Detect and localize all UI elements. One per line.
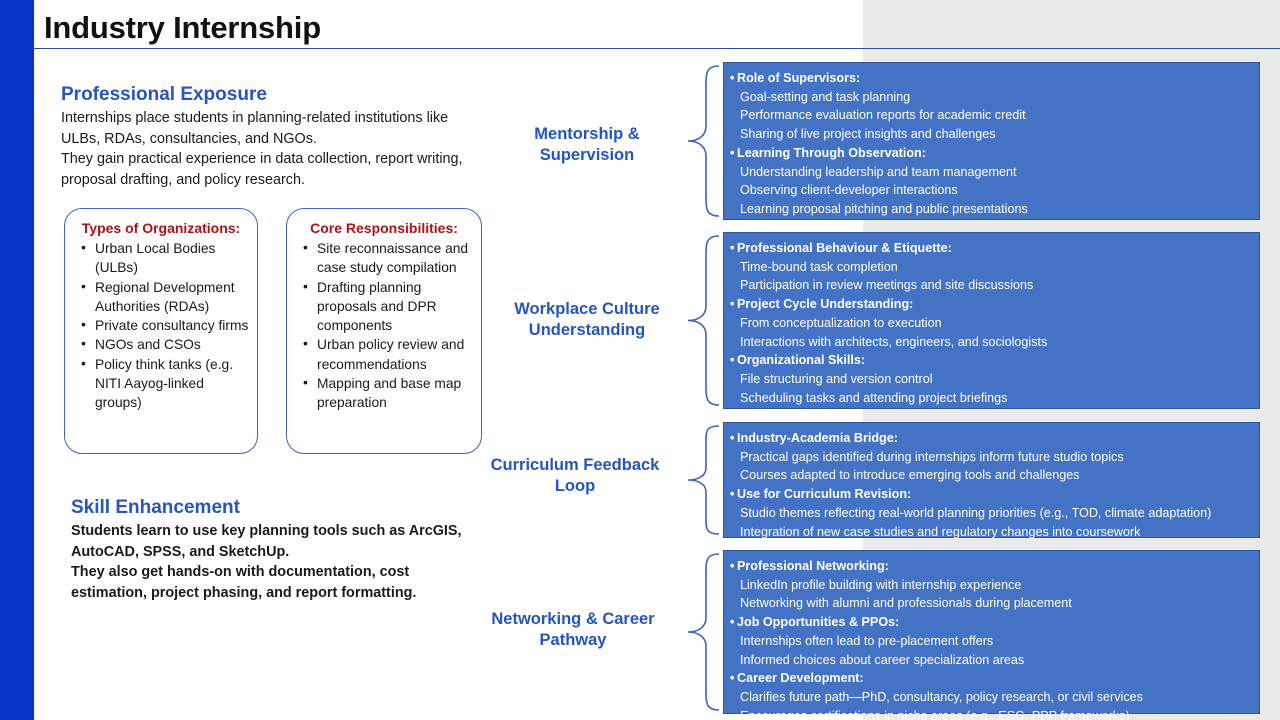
core-responsibilities-card: Core Responsibilities: Site reconnaissan… — [286, 208, 482, 454]
list-item: Urban policy review and recommendations — [317, 335, 473, 374]
panel-heading-line: •Use for Curriculum Revision: — [730, 485, 1251, 504]
list-item: Mapping and base map preparation — [317, 374, 473, 413]
panel-detail-line: Interactions with architects, engineers,… — [730, 333, 1251, 352]
list-item: Regional Development Authorities (RDAs) — [95, 278, 249, 317]
panel-heading-line: •Professional Behaviour & Etiquette: — [730, 239, 1251, 258]
panel-workplace-culture: •Professional Behaviour & Etiquette:Time… — [723, 232, 1260, 409]
panel-detail-line: File structuring and version control — [730, 370, 1251, 389]
section-label-networking: Networking & CareerPathway — [478, 609, 668, 651]
brace-mentorship — [686, 64, 720, 218]
panel-detail-line: Integration of new case studies and regu… — [730, 523, 1251, 542]
panel-detail-line: Informed choices about career specializa… — [730, 651, 1251, 670]
panel-detail-line: Encourages certifications in niche areas… — [730, 707, 1251, 720]
panel-detail-line: Understanding leadership and team manage… — [730, 163, 1251, 182]
panel-detail-line: Sharing of live project insights and cha… — [730, 125, 1251, 144]
card-title: Core Responsibilities: — [291, 219, 477, 237]
panel-detail-line: Practical gaps identified during interns… — [730, 448, 1251, 467]
panel-detail-line: Networking with alumni and professionals… — [730, 594, 1251, 613]
skill-enhancement-heading: Skill Enhancement — [71, 497, 240, 519]
bullet-icon: • — [730, 69, 737, 88]
card-list: Site reconnaissance and case study compi… — [287, 239, 481, 413]
panel-mentorship-supervision: •Role of Supervisors:Goal-setting and ta… — [723, 62, 1260, 220]
types-of-organizations-card: Types of Organizations: Urban Local Bodi… — [64, 208, 258, 454]
brace-curriculum — [686, 424, 720, 536]
panel-heading-line: •Learning Through Observation: — [730, 144, 1251, 163]
panel-networking-career: •Professional Networking:LinkedIn profil… — [723, 550, 1260, 714]
panel-detail-line: Clarifies future path—PhD, consultancy, … — [730, 688, 1251, 707]
list-item: Site reconnaissance and case study compi… — [317, 239, 473, 278]
panel-detail-line: Performance evaluation reports for acade… — [730, 106, 1251, 125]
panel-detail-line: Internships often lead to pre-placement … — [730, 632, 1251, 651]
panel-heading-line: •Job Opportunities & PPOs: — [730, 613, 1251, 632]
bullet-icon: • — [730, 351, 737, 370]
list-item: Urban Local Bodies (ULBs) — [95, 239, 249, 278]
card-list: Urban Local Bodies (ULBs)Regional Develo… — [65, 239, 257, 413]
panel-curriculum-feedback: •Industry-Academia Bridge:Practical gaps… — [723, 422, 1260, 538]
panel-detail-line: Learning proposal pitching and public pr… — [730, 200, 1251, 219]
bullet-icon: • — [730, 429, 737, 448]
panel-detail-line: Scheduling tasks and attending project b… — [730, 389, 1251, 408]
list-item: Private consultancy firms — [95, 316, 249, 335]
slide-canvas: Industry Internship Professional Exposur… — [0, 0, 1280, 720]
panel-detail-line: Time-bound task completion — [730, 258, 1251, 277]
panel-heading-line: •Industry-Academia Bridge: — [730, 429, 1251, 448]
left-accent-bar — [0, 0, 34, 720]
page-title: Industry Internship — [44, 10, 321, 46]
brace-workplace — [686, 234, 720, 407]
section-label-curriculum: Curriculum FeedbackLoop — [480, 455, 670, 497]
panel-detail-line: LinkedIn profile building with internshi… — [730, 576, 1251, 595]
panel-detail-line: Goal-setting and task planning — [730, 88, 1251, 107]
panel-detail-line: Studio themes reflecting real-world plan… — [730, 504, 1251, 523]
professional-exposure-heading: Professional Exposure — [61, 84, 267, 106]
skill-enhancement-body: Students learn to use key planning tools… — [71, 521, 471, 603]
bullet-icon: • — [730, 669, 737, 688]
panel-detail-line: Observing client-developer interactions — [730, 181, 1251, 200]
card-title: Types of Organizations: — [69, 219, 253, 237]
list-item: NGOs and CSOs — [95, 335, 249, 354]
panel-heading-line: •Role of Supervisors: — [730, 69, 1251, 88]
panel-heading-line: •Career Development: — [730, 669, 1251, 688]
professional-exposure-body: Internships place students in planning-r… — [61, 108, 481, 190]
section-label-workplace: Workplace CultureUnderstanding — [492, 299, 682, 341]
bullet-icon: • — [730, 239, 737, 258]
panel-detail-line: From conceptualization to execution — [730, 314, 1251, 333]
bullet-icon: • — [730, 295, 737, 314]
section-label-mentorship: Mentorship &Supervision — [492, 124, 682, 166]
bullet-icon: • — [730, 557, 737, 576]
bullet-icon: • — [730, 485, 737, 504]
list-item: Drafting planning proposals and DPR comp… — [317, 278, 473, 336]
panel-heading-line: •Professional Networking: — [730, 557, 1251, 576]
panel-heading-line: •Project Cycle Understanding: — [730, 295, 1251, 314]
title-divider — [34, 48, 1280, 49]
panel-detail-line: Courses adapted to introduce emerging to… — [730, 466, 1251, 485]
panel-heading-line: •Organizational Skills: — [730, 351, 1251, 370]
list-item: Policy think tanks (e.g. NITI Aayog-link… — [95, 355, 249, 413]
brace-networking — [686, 552, 720, 712]
panel-detail-line: Participation in review meetings and sit… — [730, 276, 1251, 295]
bullet-icon: • — [730, 144, 737, 163]
bullet-icon: • — [730, 613, 737, 632]
